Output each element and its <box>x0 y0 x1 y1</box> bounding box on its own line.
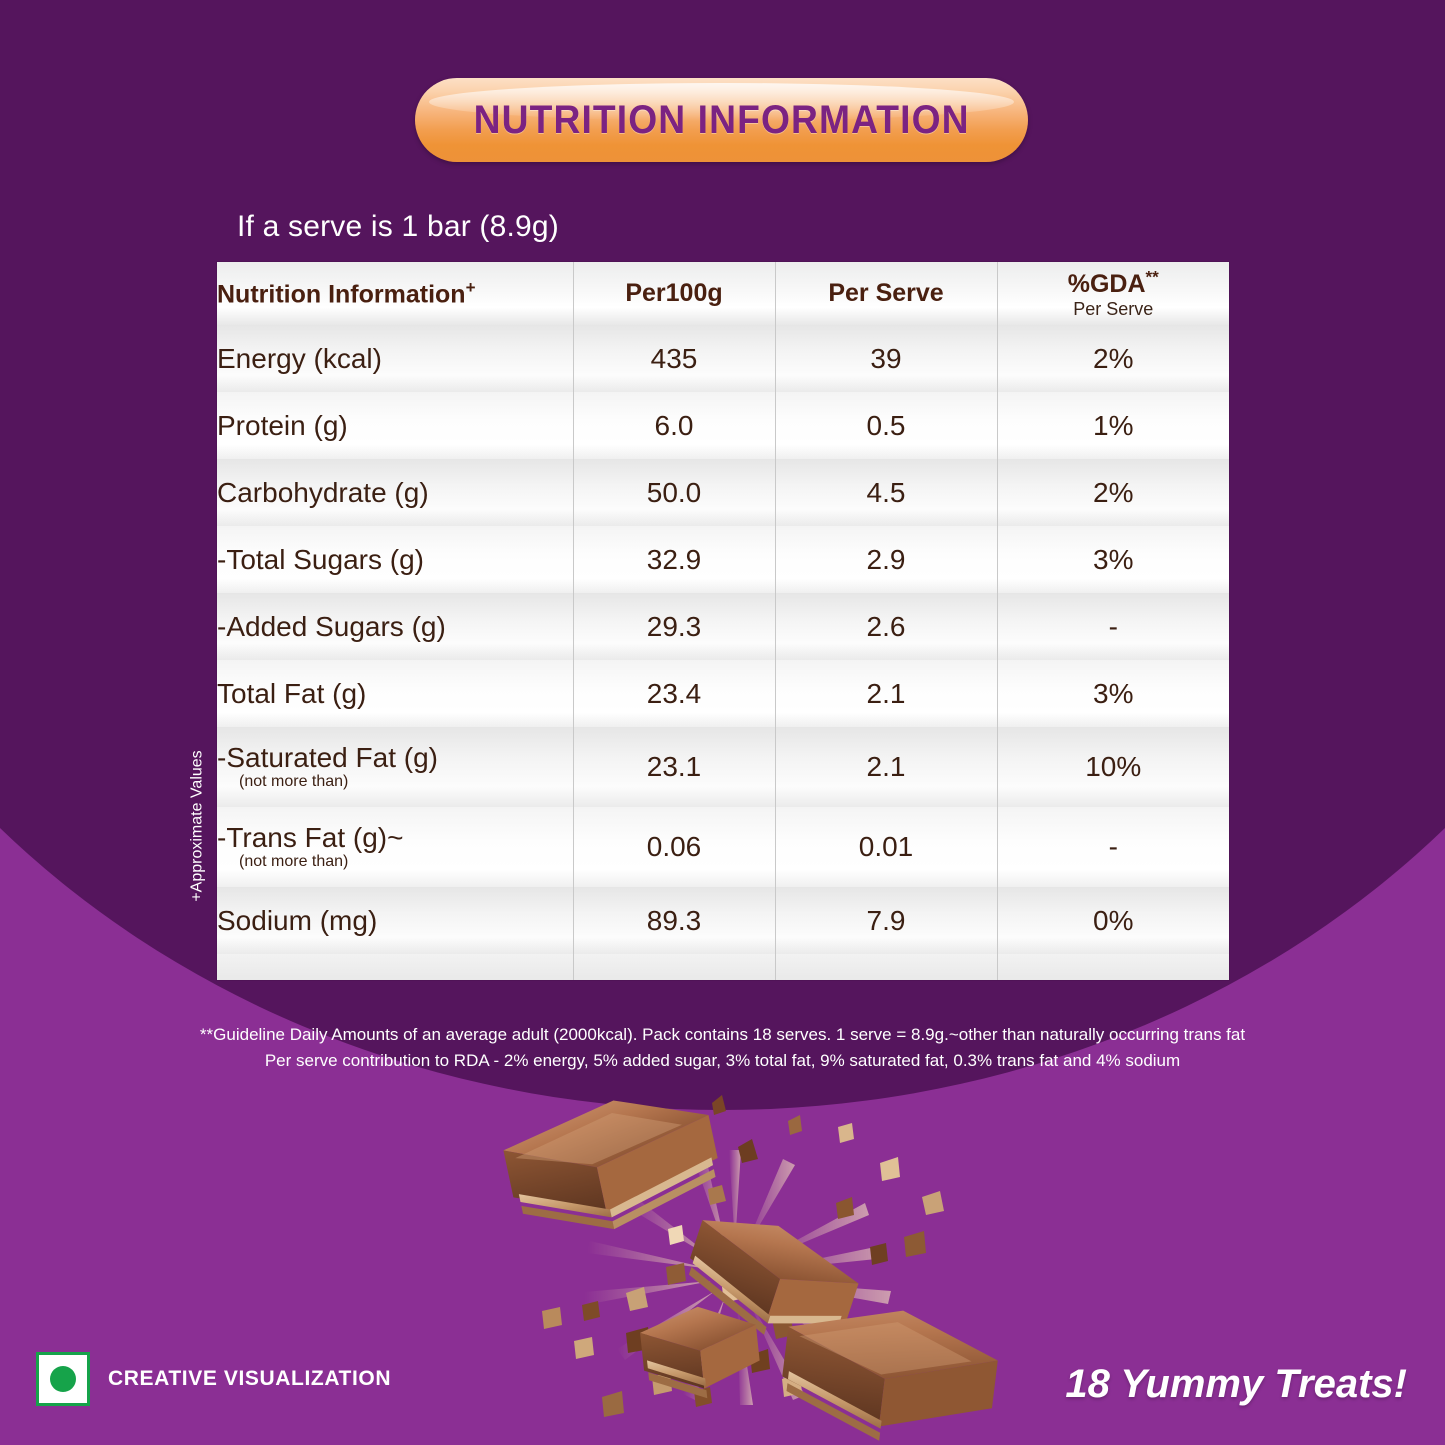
nutrition-information-panel: NUTRITION INFORMATION If a serve is 1 ba… <box>0 0 1445 1445</box>
row-gda-cell: 10% <box>997 727 1229 807</box>
row-label-cell: -Total Sugars (g) <box>217 526 573 593</box>
row-per-serve-cell: 0.01 <box>775 807 997 887</box>
row-per-100g-cell: 6.0 <box>573 392 775 459</box>
approximate-values-text: +Approximate Values <box>189 750 207 901</box>
approximate-values-note: +Approximate Values <box>184 723 212 928</box>
table-row: Total Fat (g)23.42.13% <box>217 660 1229 727</box>
table-row: -Trans Fat (g)~(not more than)0.060.01- <box>217 807 1229 887</box>
row-label-cell: -Trans Fat (g)~(not more than) <box>217 807 573 887</box>
table-row: Sodium (mg)89.37.90% <box>217 887 1229 954</box>
row-sub-note: (not more than) <box>239 774 573 791</box>
tagline: 18 Yummy Treats! <box>1065 1362 1407 1407</box>
row-per-serve-cell: 39 <box>775 325 997 392</box>
row-per-serve-cell: 7.9 <box>775 887 997 954</box>
row-sub-note: (not more than) <box>239 854 573 871</box>
chocolate-crumbs <box>542 1095 944 1417</box>
row-label-cell: -Saturated Fat (g)(not more than) <box>217 727 573 807</box>
row-per-serve-cell: 2.1 <box>775 727 997 807</box>
header-gda-wrap: %GDA** Per Serve <box>998 270 1230 318</box>
row-per-serve-cell: 2.9 <box>775 526 997 593</box>
table-bottom-spacer-cell <box>997 954 1229 980</box>
header-plus-sup: + <box>466 278 476 297</box>
row-label-cell: Total Fat (g) <box>217 660 573 727</box>
table-row: -Total Sugars (g)32.92.93% <box>217 526 1229 593</box>
page-title: NUTRITION INFORMATION <box>474 98 970 143</box>
creative-visualization-label: CREATIVE VISUALIZATION <box>108 1367 391 1391</box>
row-per-100g-cell: 23.4 <box>573 660 775 727</box>
row-gda-cell: - <box>997 593 1229 660</box>
row-gda-cell: 0% <box>997 887 1229 954</box>
row-gda-cell: - <box>997 807 1229 887</box>
row-per-100g-cell: 50.0 <box>573 459 775 526</box>
footnotes: **Guideline Daily Amounts of an average … <box>0 1022 1445 1075</box>
vegetarian-mark-icon <box>36 1352 90 1406</box>
row-per-100g-cell: 89.3 <box>573 887 775 954</box>
table-bottom-spacer <box>217 954 1229 980</box>
row-label-cell: Energy (kcal) <box>217 325 573 392</box>
row-per-100g-cell: 29.3 <box>573 593 775 660</box>
table-bottom-spacer-cell <box>775 954 997 980</box>
chocolate-wafer-splash-image <box>440 1085 1030 1445</box>
header-nutrition-information-label: Nutrition Information <box>217 280 466 308</box>
footnote-line-2: Per serve contribution to RDA - 2% energ… <box>0 1048 1445 1074</box>
row-per-serve-cell: 2.6 <box>775 593 997 660</box>
wafer-bar-lower-center <box>638 1301 763 1405</box>
wafer-bar-bottom-right <box>776 1297 1003 1445</box>
table-bottom-spacer-cell <box>217 954 573 980</box>
row-gda-cell: 1% <box>997 392 1229 459</box>
serve-size-line: If a serve is 1 bar (8.9g) <box>237 210 559 244</box>
header-gda: %GDA** Per Serve <box>997 262 1229 325</box>
row-label-cell: Carbohydrate (g) <box>217 459 573 526</box>
row-gda-cell: 3% <box>997 660 1229 727</box>
header-per-serve: Per Serve <box>775 262 997 325</box>
row-per-100g-cell: 32.9 <box>573 526 775 593</box>
header-nutrition-information: Nutrition Information+ <box>217 262 573 325</box>
row-label-cell: Sodium (mg) <box>217 887 573 954</box>
table-row: Protein (g)6.00.51% <box>217 392 1229 459</box>
table-body: Energy (kcal)435392%Protein (g)6.00.51%C… <box>217 325 1229 980</box>
row-per-100g-cell: 23.1 <box>573 727 775 807</box>
table-row: -Saturated Fat (g)(not more than)23.12.1… <box>217 727 1229 807</box>
row-per-serve-cell: 0.5 <box>775 392 997 459</box>
table-row: Energy (kcal)435392% <box>217 325 1229 392</box>
row-label-cell: Protein (g) <box>217 392 573 459</box>
nutrition-table: Nutrition Information+ Per100g Per Serve… <box>217 262 1229 980</box>
row-per-100g-cell: 435 <box>573 325 775 392</box>
table-row: -Added Sugars (g)29.32.6- <box>217 593 1229 660</box>
row-gda-cell: 2% <box>997 459 1229 526</box>
header-gda-sub: Per Serve <box>998 300 1230 318</box>
veg-mark-block: CREATIVE VISUALIZATION <box>36 1352 391 1406</box>
header-per-100g: Per100g <box>573 262 775 325</box>
row-per-serve-cell: 4.5 <box>775 459 997 526</box>
row-per-100g-cell: 0.06 <box>573 807 775 887</box>
wafer-bar-center-broken <box>675 1203 868 1358</box>
row-gda-cell: 3% <box>997 526 1229 593</box>
table-bottom-spacer-cell <box>573 954 775 980</box>
row-per-serve-cell: 2.1 <box>775 660 997 727</box>
row-gda-cell: 2% <box>997 325 1229 392</box>
table-row: Carbohydrate (g)50.04.52% <box>217 459 1229 526</box>
title-pill: NUTRITION INFORMATION <box>415 78 1028 162</box>
table-header: Nutrition Information+ Per100g Per Serve… <box>217 262 1229 325</box>
footnote-line-1: **Guideline Daily Amounts of an average … <box>0 1022 1445 1048</box>
header-gda-sup: ** <box>1146 268 1159 287</box>
splash-rays <box>584 1150 891 1405</box>
header-gda-label: %GDA <box>1068 270 1146 298</box>
vegetarian-green-dot-icon <box>50 1366 76 1392</box>
table-header-row: Nutrition Information+ Per100g Per Serve… <box>217 262 1229 325</box>
row-label-cell: -Added Sugars (g) <box>217 593 573 660</box>
